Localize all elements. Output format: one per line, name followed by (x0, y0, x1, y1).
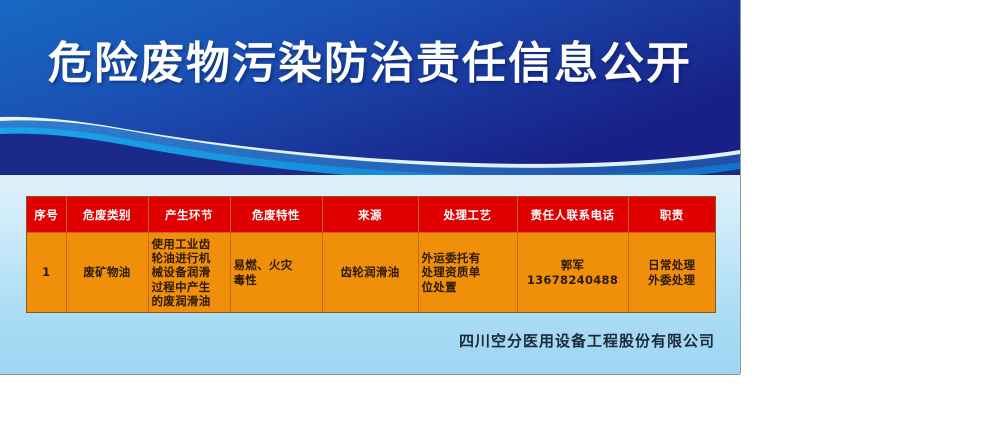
column-header-category: 危废类别 (66, 197, 148, 233)
table-header-row: 序号 危废类别 产生环节 危废特性 来源 处理工艺 责任人联系电话 职责 (27, 197, 715, 233)
text-line: 毒性 (234, 273, 319, 287)
cell-index: 1 (27, 233, 66, 313)
company-name: 四川空分医用设备工程股份有限公司 (0, 330, 715, 351)
cell-hazard-property: 易燃、火灾毒性 (230, 233, 322, 313)
responsible-contact-lines: 郭军 13678240488 (521, 258, 625, 286)
text-line: 日常处理 (632, 258, 713, 272)
table-row: 1 废矿物油 使用工业齿轮油进行机械设备润滑过程中产生的废润滑油 易燃、火灾毒性… (27, 233, 715, 313)
text-line: 位处置 (422, 280, 514, 294)
responsible-person-phone: 13678240488 (521, 273, 625, 287)
hazardous-waste-info-poster: 危险废物污染防治责任信息公开 序号 危废类别 产生环节 危废特性 来源 处理工艺… (0, 0, 740, 374)
cell-category: 废矿物油 (66, 233, 148, 313)
text-line: 械设备润滑 (152, 265, 227, 279)
text-line: 处理资质单 (422, 265, 514, 279)
column-header-generation-stage: 产生环节 (148, 197, 230, 233)
responsible-person-name: 郭军 (521, 258, 625, 272)
text-line: 的废润滑油 (152, 294, 227, 308)
text-line: 外运委托有 (422, 251, 514, 265)
cell-source: 齿轮润滑油 (322, 233, 418, 313)
column-header-treatment-process: 处理工艺 (418, 197, 517, 233)
duty-lines: 日常处理外委处理 (632, 258, 713, 286)
column-header-responsible-phone: 责任人联系电话 (517, 197, 628, 233)
text-line: 轮油进行机 (152, 251, 227, 265)
text-line: 使用工业齿 (152, 237, 227, 251)
cell-treatment-process: 外运委托有处理资质单位处置 (418, 233, 517, 313)
text-line: 易燃、火灾 (234, 258, 319, 272)
text-line: 外委处理 (632, 273, 713, 287)
text-line: 过程中产生 (152, 280, 227, 294)
column-header-duty: 职责 (628, 197, 715, 233)
treatment-process-lines: 外运委托有处理资质单位处置 (422, 251, 514, 293)
hazard-property-lines: 易燃、火灾毒性 (234, 258, 319, 286)
column-header-source: 来源 (322, 197, 418, 233)
generation-stage-lines: 使用工业齿轮油进行机械设备润滑过程中产生的废润滑油 (152, 237, 227, 307)
page-title: 危险废物污染防治责任信息公开 (0, 36, 740, 91)
column-header-index: 序号 (27, 197, 66, 233)
cell-responsible-contact: 郭军 13678240488 (517, 233, 628, 313)
hazardous-waste-table: 序号 危废类别 产生环节 危废特性 来源 处理工艺 责任人联系电话 职责 1 废… (27, 197, 715, 312)
cell-duty: 日常处理外委处理 (628, 233, 715, 313)
column-header-hazard-property: 危废特性 (230, 197, 322, 233)
cell-generation-stage: 使用工业齿轮油进行机械设备润滑过程中产生的废润滑油 (148, 233, 230, 313)
poster-header-band: 危险废物污染防治责任信息公开 (0, 0, 740, 175)
